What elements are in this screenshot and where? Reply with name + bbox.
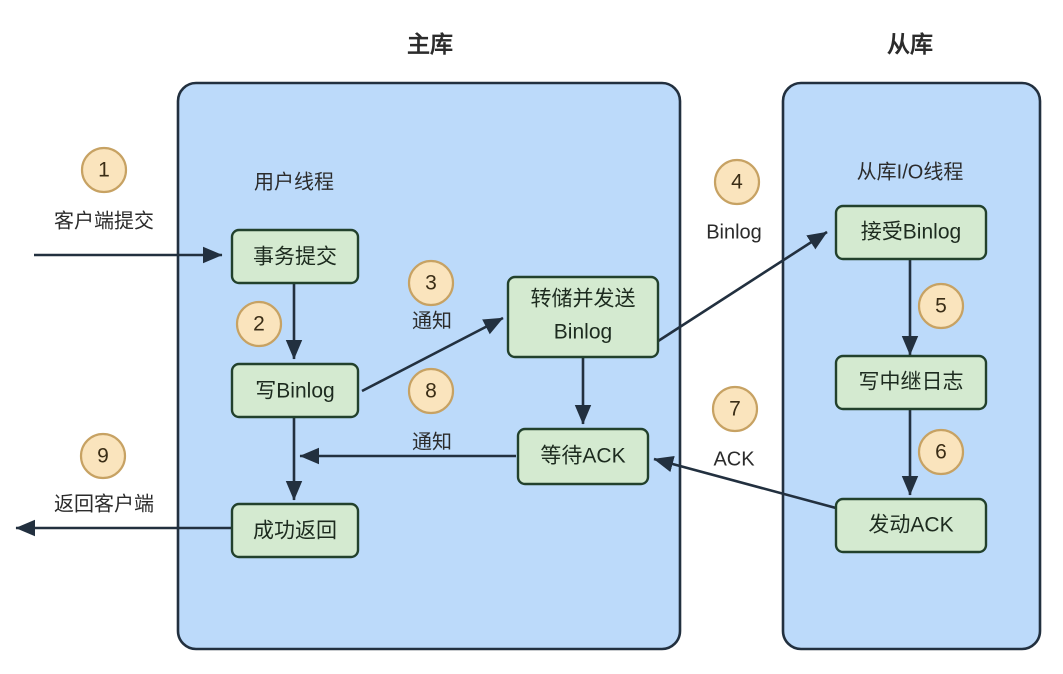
node-write-binlog[interactable]: 写Binlog [232,364,358,417]
node-success-return[interactable]: 成功返回 [232,504,358,557]
node-send-ack[interactable]: 发动ACK [836,499,986,552]
step-badge-7: 7 [713,387,757,431]
node-send-ack-label: 发动ACK [868,514,953,537]
master-panel-title: 主库 [407,31,453,57]
step-badge-5-number: 5 [935,295,947,318]
step-badge-1-number: 1 [98,159,110,182]
node-write-relay-log[interactable]: 写中继日志 [836,356,986,409]
step-badge-7-number: 7 [729,398,741,421]
step-badge-4: 4 [715,160,759,204]
node-commit[interactable]: 事务提交 [232,230,358,283]
node-wait-ack[interactable]: 等待ACK [518,429,648,484]
diagram-canvas: 主库 从库 用户线程 从库I/O线程 [0,0,1063,674]
step-badge-8: 8 [409,369,453,413]
node-success-return-label: 成功返回 [253,520,337,543]
edge-label-binlog: Binlog [706,221,762,243]
slave-panel-title: 从库 [887,31,933,57]
step-badge-6: 6 [919,430,963,474]
edge-label-notify-8: 通知 [412,430,452,453]
edge-label-notify-3: 通知 [412,309,452,332]
node-write-relay-log-label: 写中继日志 [859,371,964,394]
node-receive-binlog-label: 接受Binlog [861,221,961,244]
step-badge-5: 5 [919,284,963,328]
user-thread-label: 用户线程 [254,170,334,193]
step-badge-3: 3 [409,261,453,305]
slave-io-thread-label: 从库I/O线程 [857,160,964,183]
node-dump-send-binlog[interactable]: 转储并发送 Binlog [508,277,658,357]
step-badge-3-number: 3 [425,272,437,295]
node-receive-binlog[interactable]: 接受Binlog [836,206,986,259]
step-badge-9: 9 [81,434,125,478]
node-write-binlog-label: 写Binlog [255,380,334,403]
edge-label-return-client: 返回客户端 [54,492,154,515]
step-badge-8-number: 8 [425,380,437,403]
step-badge-4-number: 4 [731,171,743,194]
step-badge-2: 2 [237,302,281,346]
node-commit-label: 事务提交 [253,246,337,269]
edge-label-ack: ACK [713,448,755,470]
step-badge-6-number: 6 [935,441,947,464]
step-badge-1: 1 [82,148,126,192]
replication-flow-diagram: 主库 从库 用户线程 从库I/O线程 [0,0,1063,674]
edge-label-client-commit: 客户端提交 [54,209,154,232]
step-badge-9-number: 9 [97,445,109,468]
step-badge-2-number: 2 [253,313,265,336]
node-dump-send-binlog-label-line2: Binlog [554,321,612,344]
node-wait-ack-label: 等待ACK [540,445,625,468]
node-dump-send-binlog-label-line1: 转储并发送 [531,288,636,311]
